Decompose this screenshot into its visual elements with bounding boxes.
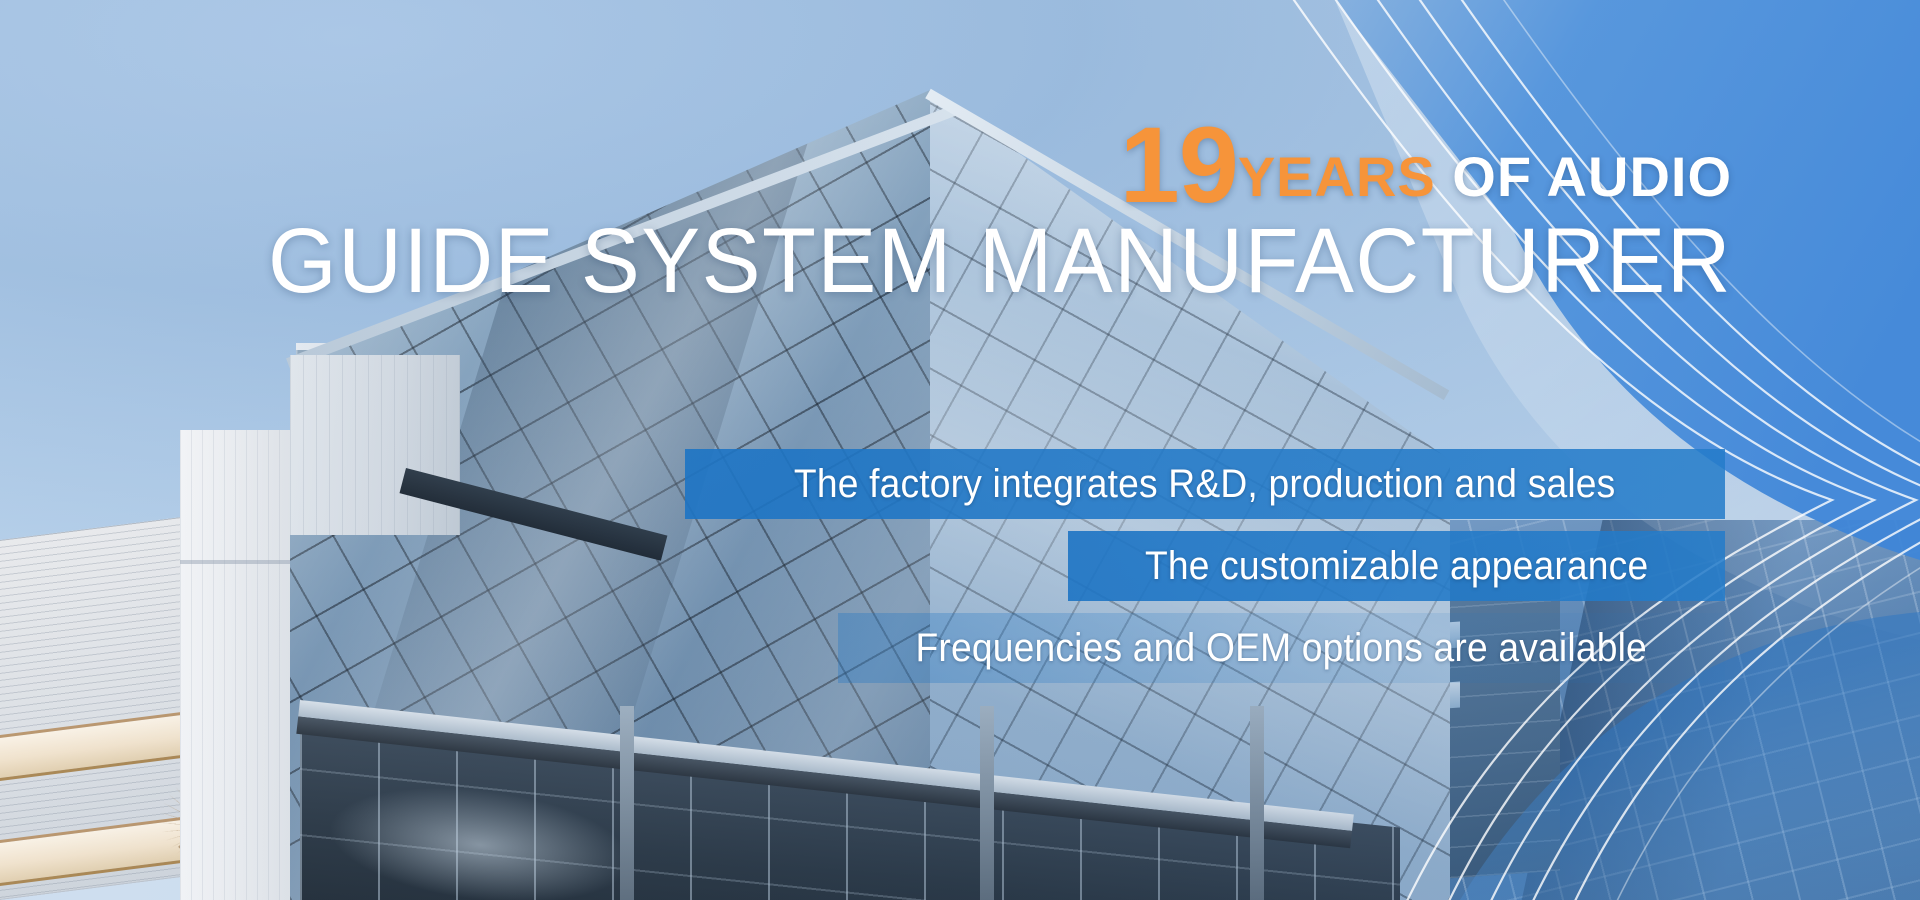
feature-bar: The customizable appearance xyxy=(1068,531,1725,601)
feature-bar: The factory integrates R&D, production a… xyxy=(685,449,1725,519)
years-count: 19 xyxy=(1120,104,1238,225)
headline-block: 19YEARS OF AUDIO GUIDE SYSTEM MANUFACTUR… xyxy=(0,120,1920,307)
feature-bar-label: The factory integrates R&D, production a… xyxy=(794,462,1616,507)
feature-bar-label: The customizable appearance xyxy=(1145,544,1648,589)
headline-line-1: 19YEARS OF AUDIO xyxy=(0,120,1732,211)
feature-bar: Frequencies and OEM options are availabl… xyxy=(838,613,1725,683)
headline-line-2: GUIDE SYSTEM MANUFACTURER xyxy=(69,215,1732,307)
years-word: YEARS xyxy=(1238,145,1436,208)
headline-of-audio: OF AUDIO xyxy=(1436,145,1732,208)
hero-banner: 19YEARS OF AUDIO GUIDE SYSTEM MANUFACTUR… xyxy=(0,0,1920,900)
feature-bar-label: Frequencies and OEM options are availabl… xyxy=(916,626,1647,671)
